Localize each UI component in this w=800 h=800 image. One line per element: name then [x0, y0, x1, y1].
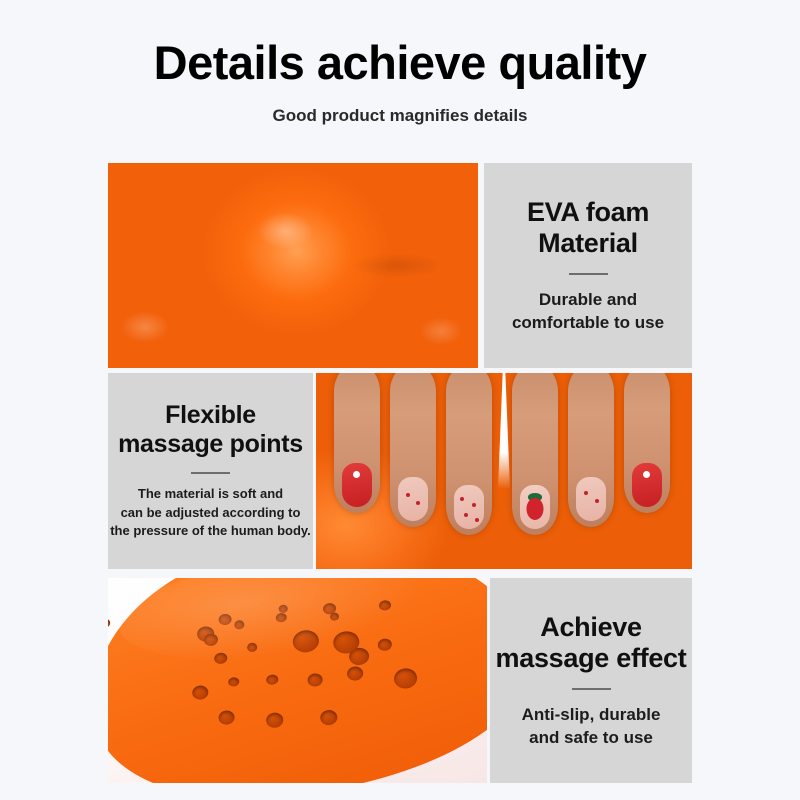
finger-4 — [512, 373, 558, 535]
feature-body-2-line-1: The material is soft and — [110, 485, 311, 503]
sandal-hole — [192, 685, 210, 701]
nail-dot-icon — [475, 518, 479, 522]
feature-body-2: The material is soft and can be adjusted… — [110, 485, 311, 540]
sandal-hole — [378, 600, 391, 611]
background-gap-highlight — [498, 373, 510, 489]
sandal-sole — [108, 578, 487, 783]
sandal-hole — [214, 652, 228, 665]
feature-heading-1-line-2: Material — [527, 228, 649, 259]
fingernail-nude-3 — [576, 477, 606, 521]
finger-2 — [390, 373, 436, 527]
infographic-page: Details achieve quality Good product mag… — [0, 0, 800, 800]
fingernail-strawberry — [520, 485, 550, 529]
hands-on-domes-photo — [316, 373, 692, 569]
feature-image-flexible-massage-points: two hands with red and strawberry painte… — [316, 373, 692, 569]
feature-image-eva-foam-material: close-up macro of orange EVA foam massag… — [108, 163, 478, 368]
feature-image-achieve-massage-effect: underside of orange massage sandal sole … — [108, 578, 487, 783]
feature-body-2-line-2: can be adjusted according to — [110, 504, 311, 522]
sandal-hole — [196, 625, 215, 642]
fingernail-red-1 — [342, 463, 372, 507]
sandal-hole — [330, 612, 340, 621]
feature-panel-achieve-massage-effect: Achieve massage effect Anti-slip, durabl… — [490, 578, 692, 783]
sandal-hole — [228, 677, 240, 687]
nail-dot-icon — [595, 499, 599, 503]
sandal-hole — [292, 629, 320, 654]
feature-heading-3-line-1: Achieve — [496, 612, 687, 643]
fingernail-nude-1 — [398, 477, 428, 521]
sandal-hole — [278, 604, 288, 613]
sandal-hole — [346, 666, 364, 682]
feature-heading-2-line-1: Flexible — [118, 401, 303, 430]
sandal-hole — [307, 673, 323, 688]
feature-heading-1: EVA foam Material — [527, 197, 649, 260]
feature-body-3-line-2: and safe to use — [522, 727, 661, 749]
finger-3 — [446, 373, 492, 535]
feature-body-2-line-3: the pressure of the human body. — [110, 522, 311, 540]
nail-dot-icon — [472, 503, 476, 507]
nail-dot-icon — [460, 497, 464, 501]
feature-heading-2-line-2: massage points — [118, 430, 303, 459]
page-title: Details achieve quality — [0, 0, 800, 87]
nail-dot-icon — [406, 493, 410, 497]
nail-dot-icon — [643, 471, 650, 478]
sandal-hole — [322, 602, 336, 615]
sandal-hole — [377, 638, 392, 652]
sandal-hole — [266, 674, 279, 685]
divider-icon-1 — [569, 273, 608, 275]
feature-heading-3-line-2: massage effect — [496, 643, 687, 674]
feature-row-flexible-massage-points: Flexible massage points The material is … — [108, 373, 692, 569]
sandal-hole — [265, 712, 284, 729]
feature-body-1-line-1: Durable and — [512, 289, 664, 311]
sandal-hole — [234, 620, 245, 630]
sandal-hole — [393, 667, 418, 690]
finger-6 — [624, 373, 670, 513]
feature-body-1-line-2: comfortable to use — [512, 312, 664, 334]
feature-body-1: Durable and comfortable to use — [512, 289, 664, 334]
sandal-hole — [218, 710, 236, 726]
feature-body-3: Anti-slip, durable and safe to use — [522, 704, 661, 749]
divider-icon-3 — [572, 688, 611, 690]
header: Details achieve quality Good product mag… — [0, 0, 800, 126]
sandal-hole — [218, 613, 232, 626]
feature-panel-eva-foam-material: EVA foam Material Durable and comfortabl… — [484, 163, 692, 368]
nail-dot-icon — [416, 501, 420, 505]
feature-heading-3: Achieve massage effect — [496, 612, 687, 675]
feature-body-3-line-1: Anti-slip, durable — [522, 704, 661, 726]
feature-row-eva-foam-material: close-up macro of orange EVA foam massag… — [108, 163, 692, 368]
sandal-hole — [247, 642, 258, 652]
nail-dot-icon — [353, 471, 360, 478]
finger-1 — [334, 373, 380, 513]
nail-dot-icon — [464, 513, 468, 517]
page-subtitle: Good product magnifies details — [0, 87, 800, 126]
fingernail-nude-2 — [454, 485, 484, 529]
finger-5 — [568, 373, 614, 527]
feature-heading-2: Flexible massage points — [118, 401, 303, 459]
divider-icon-2 — [191, 472, 230, 474]
foam-dome-texture — [108, 163, 478, 368]
fingernail-red-2 — [632, 463, 662, 507]
sandal-hole — [275, 612, 287, 622]
nail-dot-icon — [584, 491, 588, 495]
strawberry-body-icon — [527, 498, 544, 520]
sandal-hole — [203, 633, 218, 647]
feature-heading-1-line-1: EVA foam — [527, 197, 649, 228]
feature-panel-flexible-massage-points: Flexible massage points The material is … — [108, 373, 313, 569]
feature-row-achieve-massage-effect: underside of orange massage sandal sole … — [108, 578, 692, 783]
sandal-hole — [319, 709, 338, 726]
